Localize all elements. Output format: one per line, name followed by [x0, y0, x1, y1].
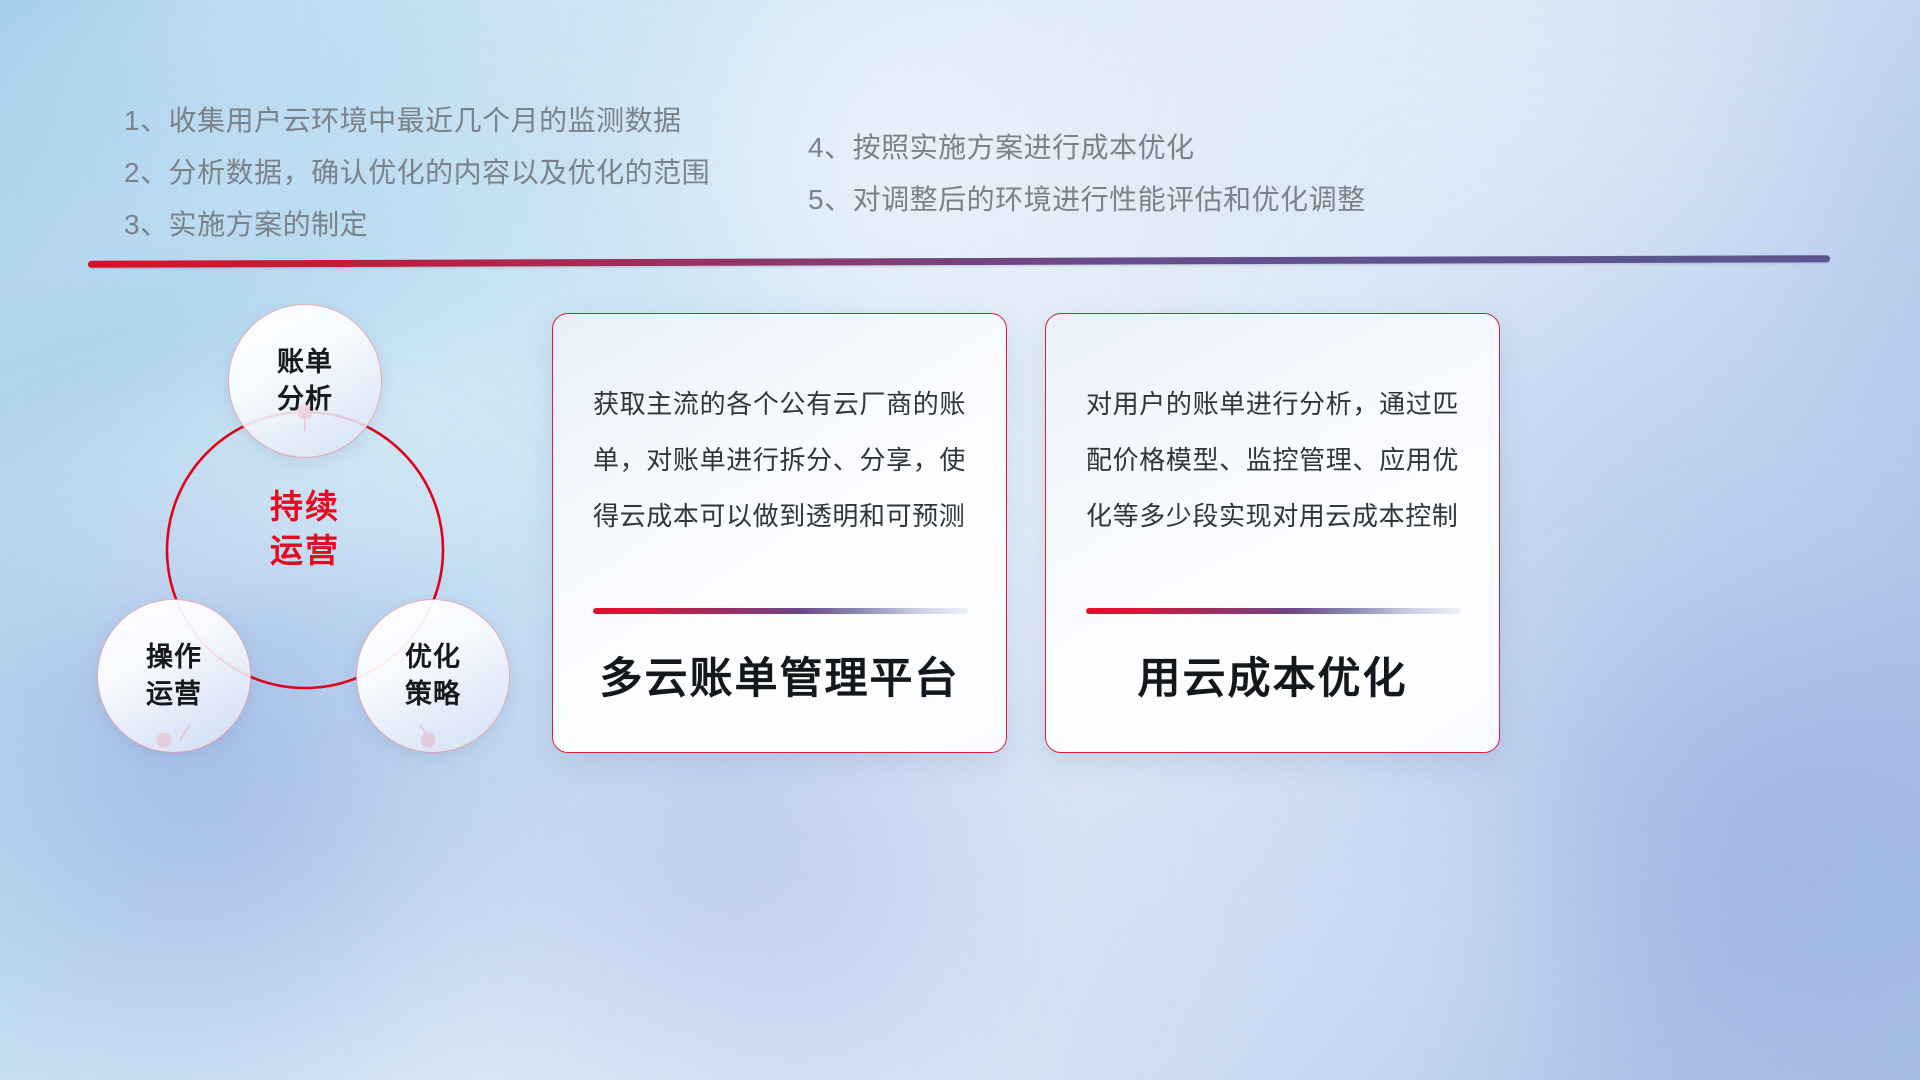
- card-title: 多云账单管理平台: [593, 644, 966, 706]
- step-item-3: 3、实施方案的制定: [124, 199, 710, 251]
- diagram-node-optimization-policy[interactable]: 优化 策略: [357, 600, 509, 752]
- steps-list-right: 4、按照实施方案进行成本优化 5、对调整后的环境进行性能评估和优化调整: [808, 122, 1366, 226]
- continuous-operations-diagram: 账单 分析 操作 运营 优化 策略 持续 运营: [80, 285, 550, 785]
- diagram-node-optimization-policy-label: 优化 策略: [405, 639, 461, 713]
- card-divider: [1086, 608, 1461, 614]
- card-body-text: 获取主流的各个公有云厂商的账单，对账单进行拆分、分享，使得云成本可以做到透明和可…: [593, 376, 966, 544]
- card-cloud-cost-optimization[interactable]: 对用户的账单进行分析，通过匹配价格模型、监控管理、应用优化等多少段实现对用云成本…: [1045, 313, 1500, 753]
- step-item-2: 2、分析数据，确认优化的内容以及优化的范围: [124, 147, 710, 199]
- steps-list-left: 1、收集用户云环境中最近几个月的监测数据 2、分析数据，确认优化的内容以及优化的…: [124, 95, 710, 251]
- diagram-node-operations-label: 操作 运营: [146, 639, 202, 713]
- diagram-center-label: 持续 运营: [240, 485, 370, 573]
- step-item-1: 1、收集用户云环境中最近几个月的监测数据: [124, 95, 710, 147]
- diagram-node-billing-analysis-label: 账单 分析: [277, 344, 333, 418]
- card-divider: [593, 608, 968, 614]
- step-item-4: 4、按照实施方案进行成本优化: [808, 122, 1366, 174]
- diagram-node-operations[interactable]: 操作 运营: [98, 600, 250, 752]
- card-title: 用云成本优化: [1086, 644, 1459, 706]
- diagram-node-billing-analysis[interactable]: 账单 分析: [229, 305, 381, 457]
- step-item-5: 5、对调整后的环境进行性能评估和优化调整: [808, 174, 1366, 226]
- card-multi-cloud-billing-platform[interactable]: 获取主流的各个公有云厂商的账单，对账单进行拆分、分享，使得云成本可以做到透明和可…: [552, 313, 1007, 753]
- card-body-text: 对用户的账单进行分析，通过匹配价格模型、监控管理、应用优化等多少段实现对用云成本…: [1086, 376, 1459, 544]
